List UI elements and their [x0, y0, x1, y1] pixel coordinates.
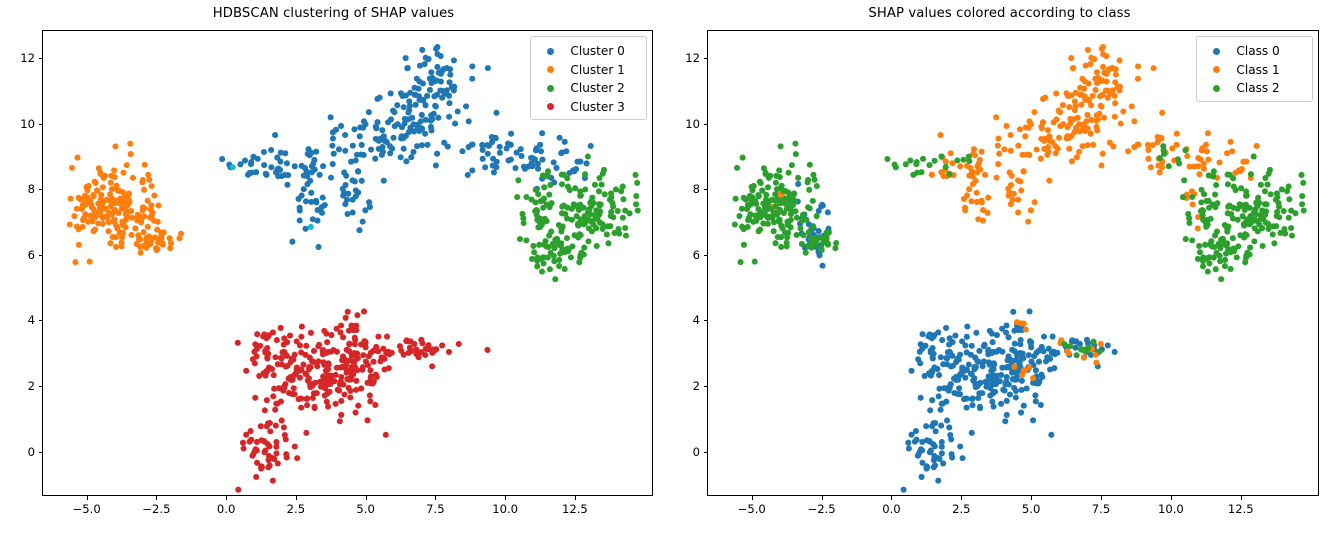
- legend-marker-icon: [547, 48, 554, 55]
- y-tick-label: 12: [20, 51, 35, 65]
- x-tickmark: [1031, 496, 1032, 500]
- legend-marker-icon: [547, 103, 554, 110]
- legend-marker-icon: [547, 85, 554, 92]
- y-tickmark: [39, 386, 43, 387]
- legend-left[interactable]: Cluster 0Cluster 1Cluster 2Cluster 3: [530, 36, 647, 120]
- x-tick-label: 7.5: [1092, 502, 1110, 516]
- x-tick-label: 7.5: [426, 502, 444, 516]
- legend-right[interactable]: Class 0Class 1Class 2: [1196, 36, 1313, 102]
- y-tick-label: 4: [28, 313, 35, 327]
- legend-item-1[interactable]: Class 1: [1204, 61, 1304, 80]
- x-tick-label: 12.5: [1228, 502, 1254, 516]
- y-tick-label: 0: [28, 445, 35, 459]
- x-tickmark: [435, 496, 436, 500]
- y-tickmark: [704, 255, 708, 256]
- legend-label: Cluster 3: [570, 101, 624, 113]
- y-tickmark: [39, 255, 43, 256]
- x-tick-label: 0.0: [882, 502, 900, 516]
- legend-item-2[interactable]: Cluster 2: [538, 79, 638, 98]
- x-tick-label: 2.5: [287, 502, 305, 516]
- y-tick-label: 12: [685, 51, 700, 65]
- y-tickmark: [704, 452, 708, 453]
- x-tick-label: 5.0: [356, 502, 374, 516]
- x-tick-label: −5.0: [73, 502, 101, 516]
- x-tickmark: [226, 496, 227, 500]
- legend-item-0[interactable]: Class 0: [1204, 42, 1304, 61]
- y-tickmark: [39, 189, 43, 190]
- x-tickmark: [296, 496, 297, 500]
- x-tickmark: [575, 496, 576, 500]
- legend-label: Cluster 2: [570, 82, 624, 94]
- legend-marker-icon: [1213, 85, 1220, 92]
- legend-item-3[interactable]: Cluster 3: [538, 98, 638, 117]
- y-tickmark: [704, 124, 708, 125]
- x-tick-label: 0.0: [217, 502, 235, 516]
- y-tick-label: 0: [693, 445, 700, 459]
- series-cluster-1: [67, 141, 184, 266]
- legend-item-0[interactable]: Cluster 0: [538, 42, 638, 61]
- legend-label: Class 0: [1236, 45, 1279, 57]
- chart-title-right: SHAP values colored according to class: [666, 6, 1333, 21]
- x-tick-label: −2.5: [807, 502, 835, 516]
- x-tick-label: 10.0: [492, 502, 518, 516]
- x-tickmark: [822, 496, 823, 500]
- series-cluster-3: [235, 308, 491, 492]
- y-tickmark: [39, 320, 43, 321]
- x-tickmark: [961, 496, 962, 500]
- y-tick-label: 6: [693, 248, 700, 262]
- panel-class-coloring: SHAP values colored according to class 0…: [666, 0, 1333, 545]
- y-tick-label: 8: [693, 182, 700, 196]
- x-tick-label: 2.5: [952, 502, 970, 516]
- figure-canvas: HDBSCAN clustering of SHAP values 024681…: [0, 0, 1333, 545]
- legend-item-2[interactable]: Class 2: [1204, 79, 1304, 98]
- y-tick-label: 6: [28, 248, 35, 262]
- y-tickmark: [39, 452, 43, 453]
- x-tick-label: −2.5: [142, 502, 170, 516]
- series-class-0: [795, 181, 1118, 493]
- series-cluster-2: [514, 153, 641, 282]
- legend-label: Class 2: [1236, 82, 1279, 94]
- x-tick-label: 12.5: [562, 502, 588, 516]
- x-tick-label: −5.0: [738, 502, 766, 516]
- legend-marker-icon: [1213, 66, 1220, 73]
- legend-item-1[interactable]: Cluster 1: [538, 61, 638, 80]
- y-tick-label: 2: [693, 379, 700, 393]
- x-tickmark: [1241, 496, 1242, 500]
- chart-title-left: HDBSCAN clustering of SHAP values: [0, 6, 667, 21]
- y-tick-label: 2: [28, 379, 35, 393]
- y-tickmark: [704, 58, 708, 59]
- y-tickmark: [39, 58, 43, 59]
- x-tickmark: [366, 496, 367, 500]
- y-tick-label: 8: [28, 182, 35, 196]
- x-tick-label: 5.0: [1022, 502, 1040, 516]
- x-tickmark: [1171, 496, 1172, 500]
- y-tick-label: 10: [20, 117, 35, 131]
- x-tickmark: [891, 496, 892, 500]
- legend-marker-icon: [547, 66, 554, 73]
- x-tick-label: 10.0: [1158, 502, 1184, 516]
- x-tickmark: [87, 496, 88, 500]
- y-tickmark: [704, 386, 708, 387]
- legend-label: Cluster 1: [570, 64, 624, 76]
- legend-label: Class 1: [1236, 64, 1279, 76]
- x-tickmark: [156, 496, 157, 500]
- y-tickmark: [704, 189, 708, 190]
- x-tickmark: [1101, 496, 1102, 500]
- legend-label: Cluster 0: [570, 45, 624, 57]
- y-tickmark: [39, 124, 43, 125]
- panel-hdbscan-clustering: HDBSCAN clustering of SHAP values 024681…: [0, 0, 667, 545]
- legend-marker-icon: [1213, 48, 1220, 55]
- y-tick-label: 10: [685, 117, 700, 131]
- x-tickmark: [505, 496, 506, 500]
- y-tickmark: [704, 320, 708, 321]
- y-tick-label: 4: [693, 313, 700, 327]
- x-tickmark: [752, 496, 753, 500]
